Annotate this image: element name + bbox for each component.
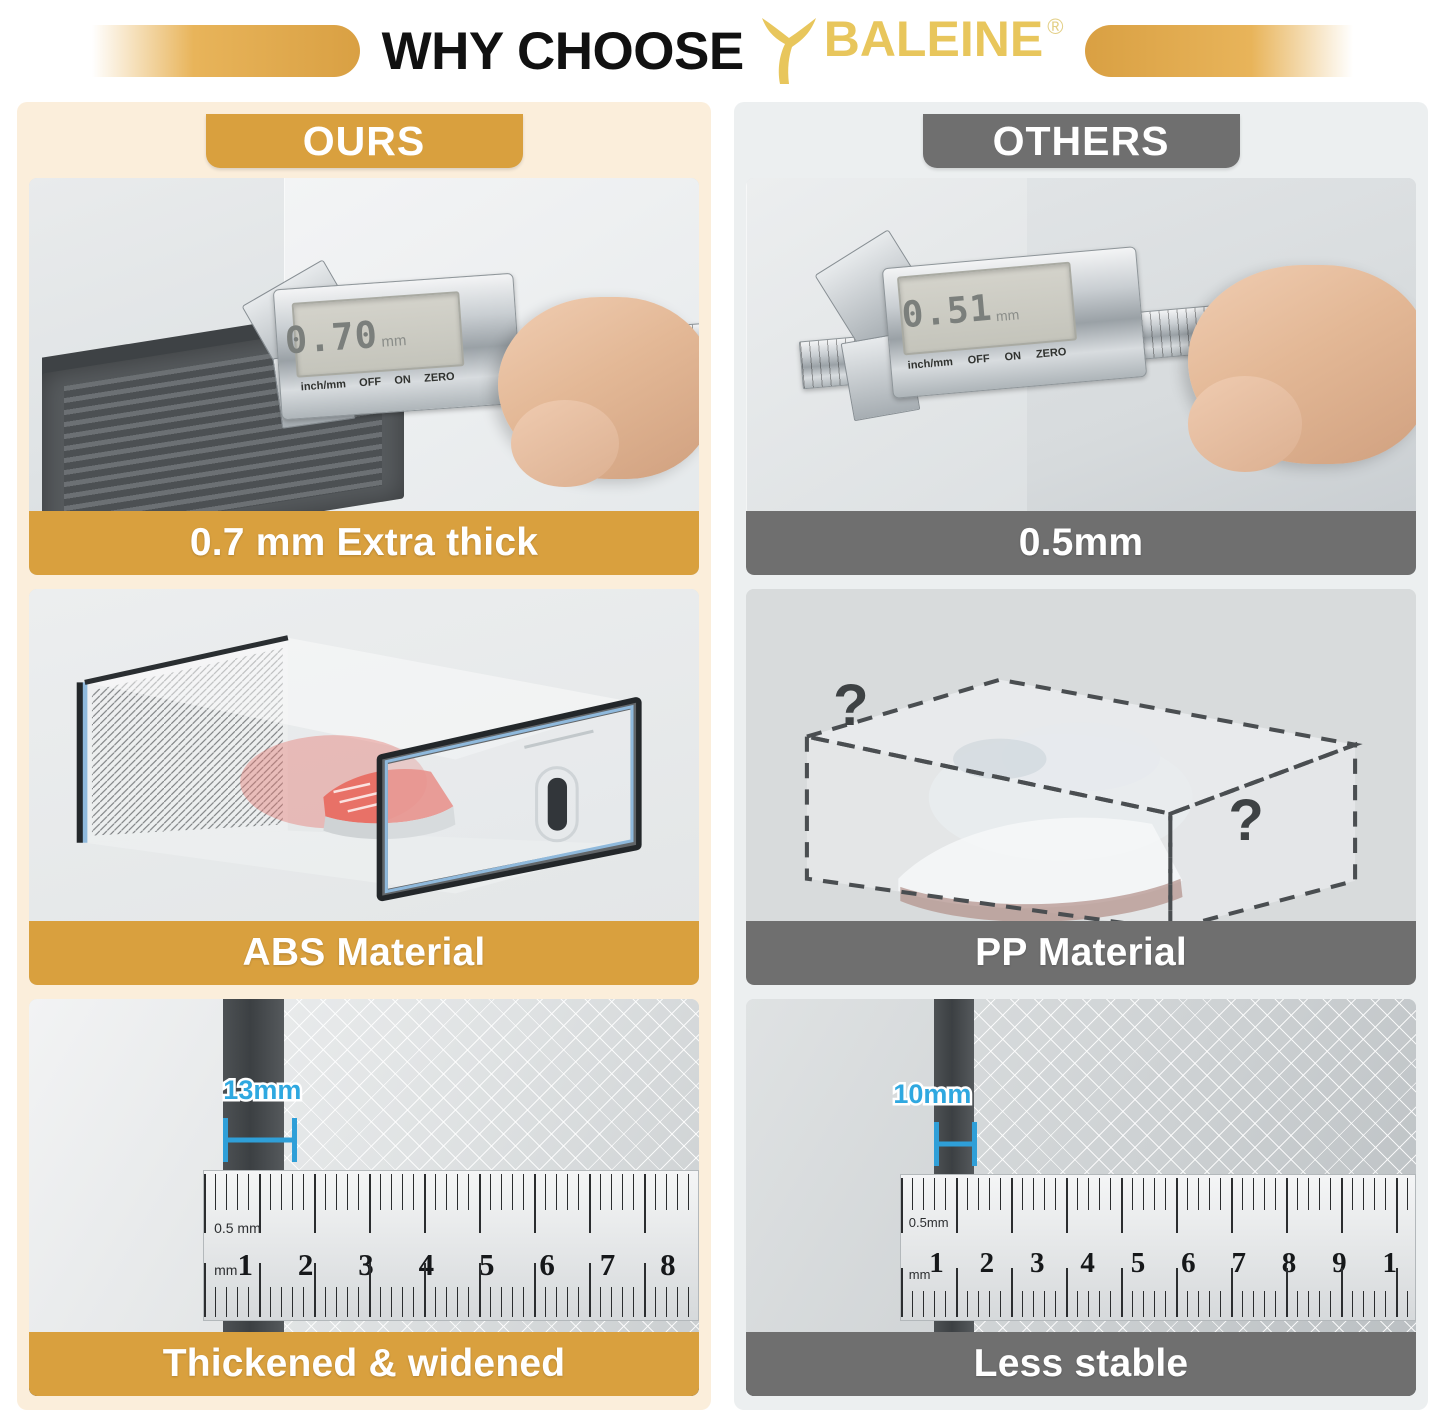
caption-ours-stability: Thickened & widened: [29, 1332, 699, 1396]
caliper-btn-off[interactable]: OFF: [358, 376, 381, 390]
comparison-grid: OURS 0.70 mm inch: [0, 102, 1445, 1410]
ruler-major-ticks-top: [901, 1178, 1415, 1233]
header-accent-bar-right: [1085, 25, 1353, 77]
caliper-lcd-display: 0.70 mm: [291, 291, 463, 378]
header-accent-bar-left: [92, 25, 360, 77]
page-header: WHY CHOOSE BALEINE ®: [0, 0, 1445, 102]
registered-trademark-icon: ®: [1047, 16, 1063, 38]
card-others-material: ? ? PP Material: [746, 589, 1416, 986]
caliper-unit: mm: [380, 332, 406, 351]
caption-others-stability: Less stable: [746, 1332, 1416, 1396]
ours-tab-row: OURS: [29, 114, 699, 172]
caliper-unit: mm: [995, 307, 1020, 325]
caption-others-thickness: 0.5mm: [746, 511, 1416, 575]
tab-others[interactable]: OTHERS: [923, 114, 1240, 168]
column-others: OTHERS 0.51 mm inch/mm OFF ON: [734, 102, 1428, 1410]
caliper-btn-zero[interactable]: ZERO: [1036, 346, 1067, 361]
question-mark-icon-left: ?: [833, 672, 868, 739]
card-ours-material: ABS Material: [29, 589, 699, 986]
caliper-btn-off[interactable]: OFF: [967, 352, 990, 366]
ruler-fine-ticks-bottom: [901, 1291, 1415, 1317]
ruler-top-label-ours: 0.5 mm: [214, 1220, 261, 1236]
caption-ours-material: ABS Material: [29, 921, 699, 985]
brand-logo: BALEINE ®: [758, 14, 1064, 88]
abs-shoe-box-illustration: [29, 589, 699, 914]
caliper-btn-on[interactable]: ON: [394, 374, 411, 387]
ruler-others: 0.5mm 1 2 3 4 5 6 7 8 9 1 mm: [900, 1174, 1416, 1321]
caliper-btn-zero[interactable]: ZERO: [423, 371, 454, 385]
caliper-reading: 0.51: [900, 291, 993, 335]
brand-name: BALEINE: [824, 14, 1043, 64]
ruler-top-label-others: 0.5mm: [909, 1215, 949, 1230]
column-ours: OURS 0.70 mm inch: [17, 102, 711, 1410]
measurement-bracket-others: [934, 1122, 978, 1166]
whale-tail-icon: [758, 14, 820, 88]
question-mark-icon-right: ?: [1228, 787, 1263, 854]
caliper-reading: 0.70: [283, 316, 378, 359]
card-ours-thickness: 0.70 mm inch/mm OFF ON ZERO 0.7 mm Extra…: [29, 178, 699, 575]
caliper-btn-on[interactable]: ON: [1004, 350, 1021, 363]
thumb: [1188, 376, 1302, 471]
ruler-ours: 0.5 mm 1 2 3 4 5 6 7 8 mm: [203, 1170, 699, 1321]
ruler-major-ticks-top: [204, 1174, 698, 1233]
measurement-bracket-ours: [223, 1118, 297, 1162]
thumb: [511, 400, 618, 487]
others-tab-row: OTHERS: [746, 114, 1416, 172]
measurement-label-ours: 13mm: [223, 1075, 301, 1106]
card-others-thickness: 0.51 mm inch/mm OFF ON ZERO 0.5mm: [746, 178, 1416, 575]
tab-ours[interactable]: OURS: [206, 114, 523, 168]
caption-others-material: PP Material: [746, 921, 1416, 985]
ruler-fine-ticks-bottom: [204, 1287, 698, 1317]
caliper-lcd-display: 0.51 mm: [897, 262, 1077, 356]
card-ours-stability: 13mm 0.5 mm 1 2 3 4 5 6 7 8: [29, 999, 699, 1396]
card-others-stability: 10mm 0.5mm 1 2 3 4 5 6 7 8 9: [746, 999, 1416, 1396]
page-title: WHY CHOOSE: [382, 25, 744, 78]
header-title-group: WHY CHOOSE BALEINE ®: [382, 14, 1064, 88]
measurement-label-others: 10mm: [893, 1079, 971, 1110]
caption-ours-thickness: 0.7 mm Extra thick: [29, 511, 699, 575]
